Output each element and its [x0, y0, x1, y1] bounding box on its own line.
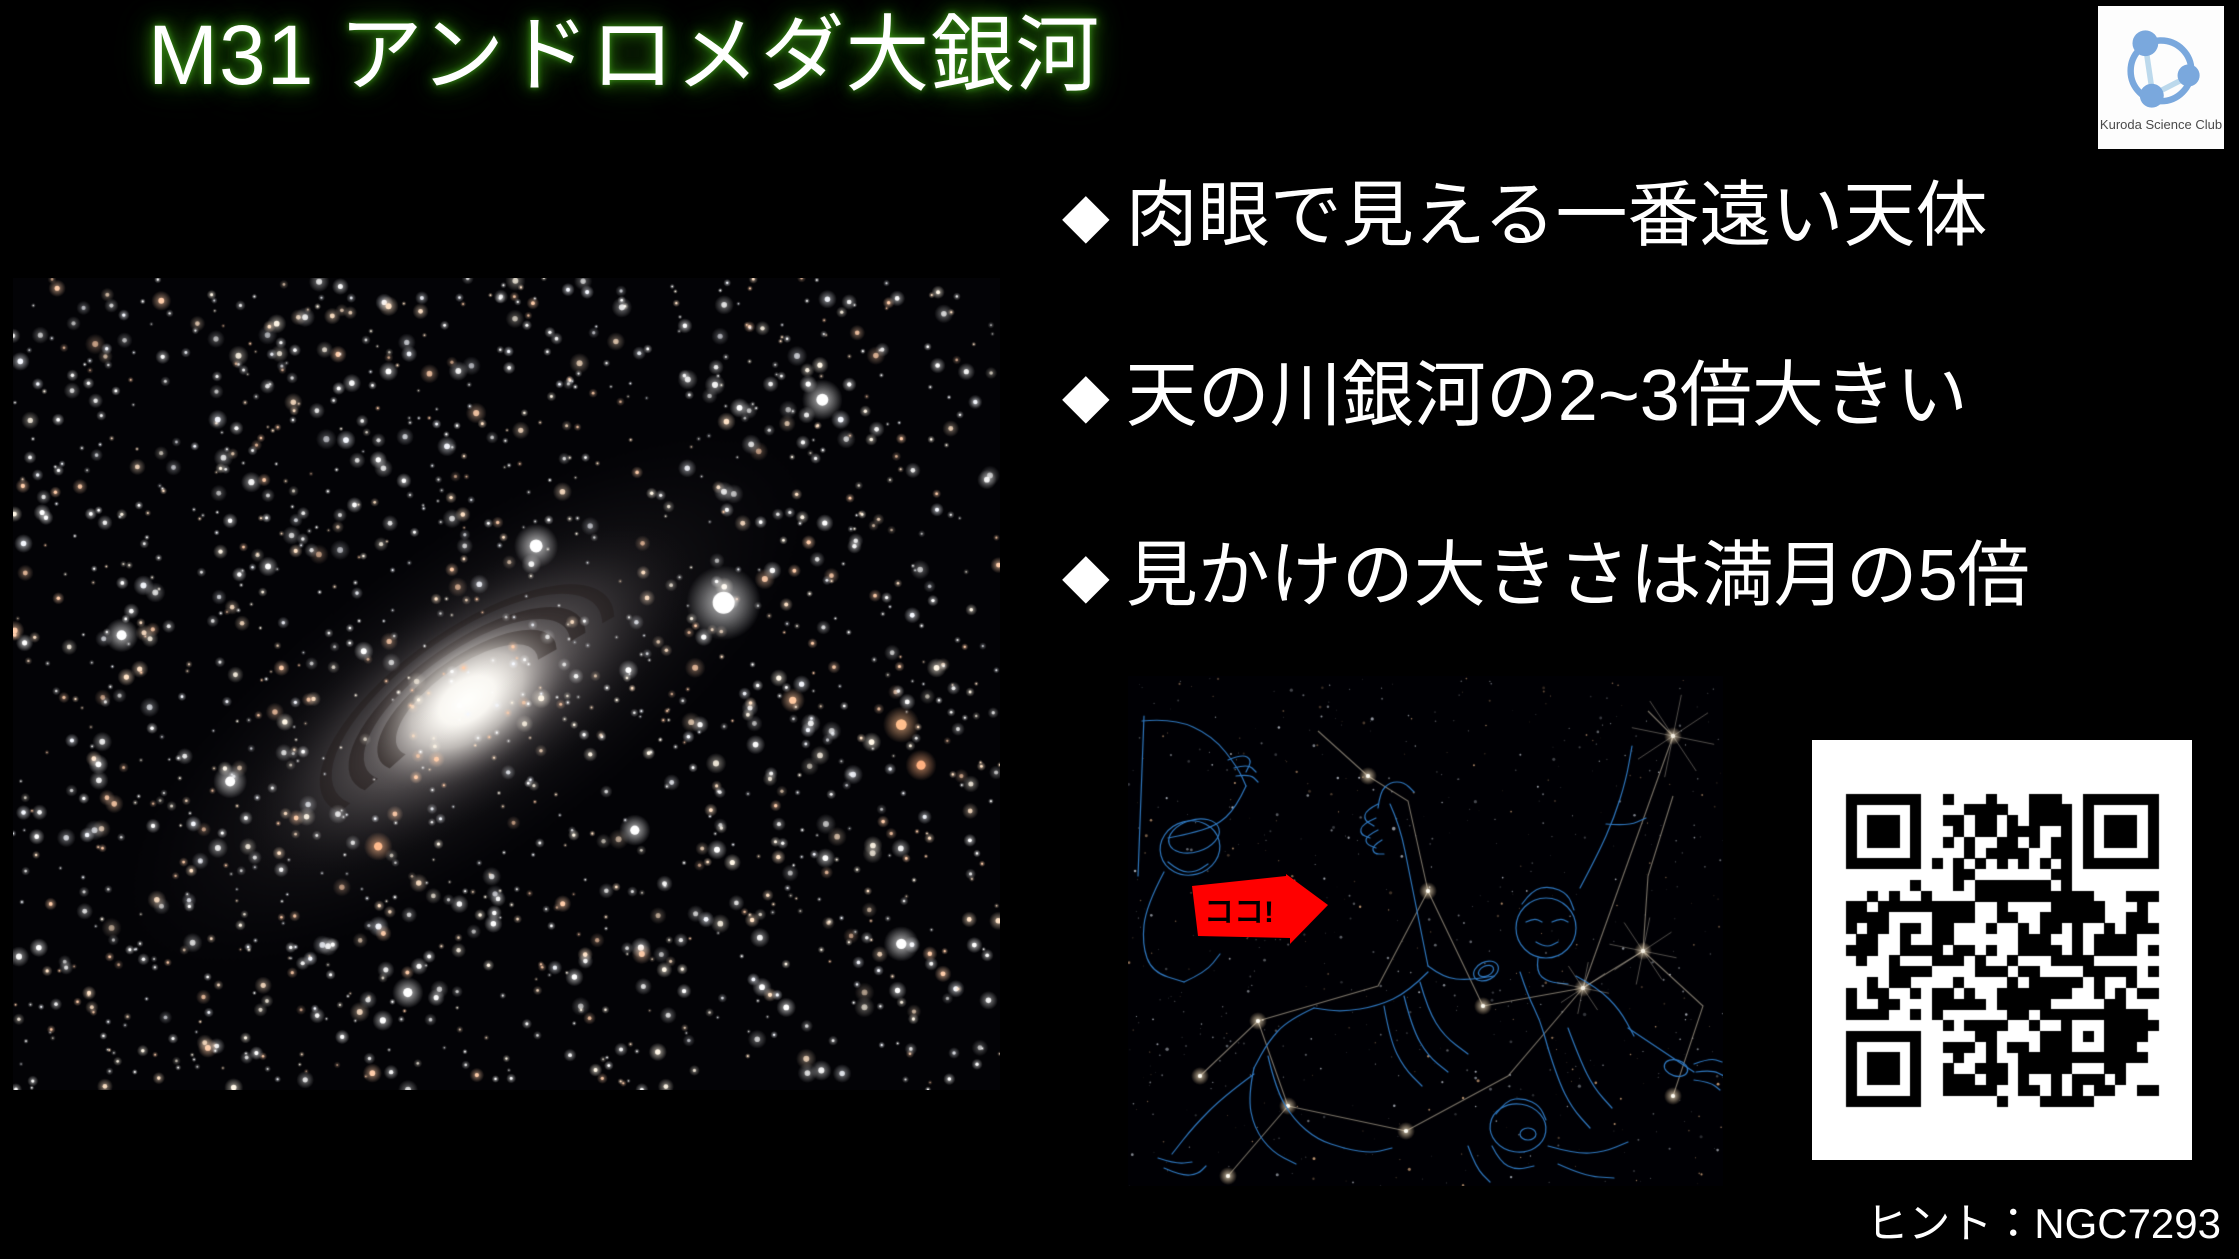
logo-caption: Kuroda Science Club	[2100, 117, 2222, 132]
bullet-item-3-label: 見かけの大きさは満月の5倍	[1126, 540, 2030, 612]
hint-text: ヒント：NGC7293	[1866, 1190, 2221, 1251]
bullet-item-3: ◆ 見かけの大きさは満月の5倍	[1062, 520, 2182, 632]
here-arrow-label: ココ!	[1204, 896, 1274, 929]
bullet-item-2: ◆ 天の川銀河の2~3倍大きい	[1062, 340, 2182, 452]
bullet-item-1-label: 肉眼で見える一番遠い天体	[1126, 180, 1988, 252]
qr-code-canvas[interactable]	[1812, 740, 2192, 1160]
network-nodes-icon	[2115, 23, 2207, 115]
bullet-item-2-label: 天の川銀河の2~3倍大きい	[1126, 360, 1968, 432]
bullet-list: ◆ 肉眼で見える一番遠い天体 ◆ 天の川銀河の2~3倍大きい ◆ 見かけの大きさ…	[1062, 160, 2182, 700]
logo: Kuroda Science Club	[2098, 6, 2224, 149]
diamond-bullet-icon: ◆	[1062, 365, 1110, 427]
m31-andromeda-photo	[13, 278, 1000, 1090]
slide-root: M31 アンドロメダ大銀河 Kuroda Science Club ◆ 肉眼で見…	[0, 0, 2239, 1259]
qr-code[interactable]	[1812, 740, 2192, 1160]
galaxy-image-canvas	[13, 278, 1000, 1090]
right-arrow-icon: ココ!	[1190, 874, 1330, 946]
diamond-bullet-icon: ◆	[1062, 185, 1110, 247]
bullet-item-1: ◆ 肉眼で見える一番遠い天体	[1062, 160, 2182, 272]
here-arrow-annotation: ココ!	[1190, 874, 1330, 946]
page-title: M31 アンドロメダ大銀河	[148, 13, 1100, 97]
diamond-bullet-icon: ◆	[1062, 545, 1110, 607]
